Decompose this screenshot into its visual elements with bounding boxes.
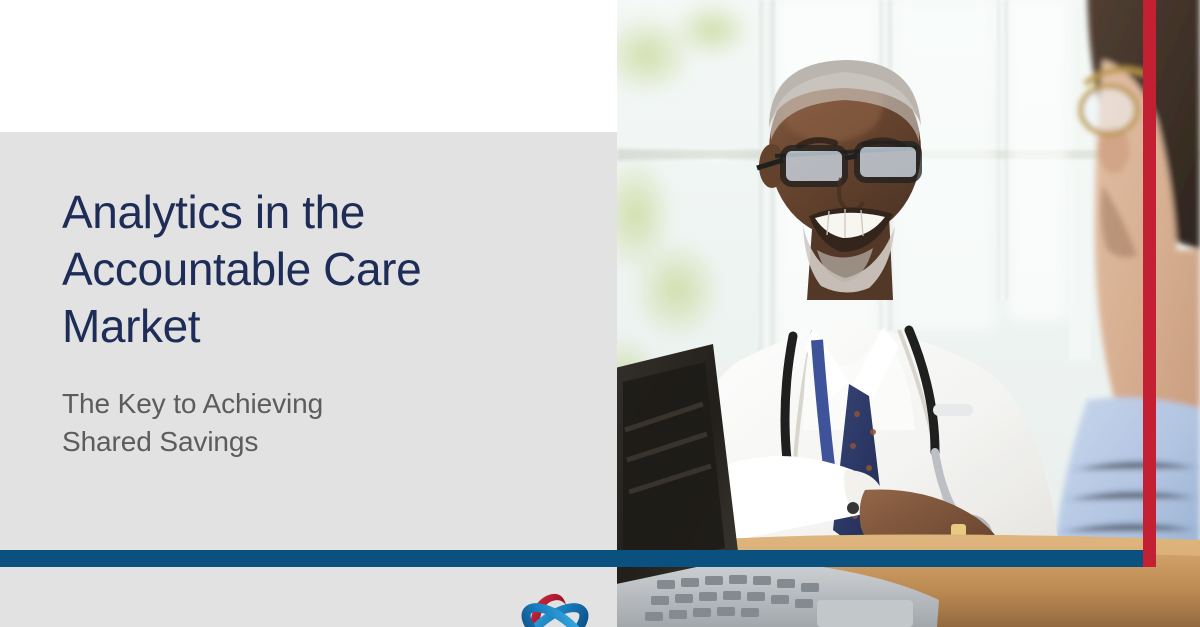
text-block: Analytics in the Accountable Care Market… xyxy=(62,184,562,461)
orbit-atom-logo xyxy=(514,587,596,627)
blue-accent-bar xyxy=(0,550,1143,567)
hero-photo-illustration xyxy=(617,0,1200,627)
red-accent-bar xyxy=(1143,0,1156,567)
page-title: Analytics in the Accountable Care Market xyxy=(62,184,562,355)
orbit-atom-logo-icon xyxy=(514,587,596,627)
hero-photo xyxy=(617,0,1200,627)
page-subtitle: The Key to Achieving Shared Savings xyxy=(62,355,562,461)
marketing-banner: Analytics in the Accountable Care Market… xyxy=(0,0,1200,627)
